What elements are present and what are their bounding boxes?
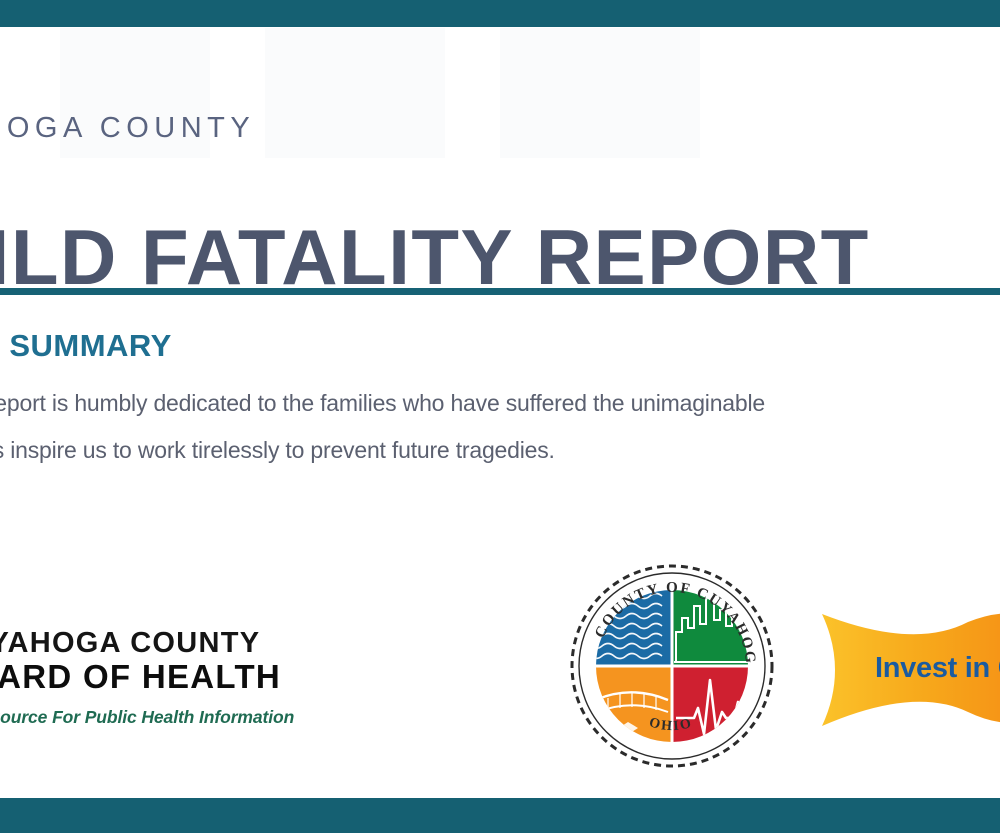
top-accent-bar <box>0 0 1000 27</box>
dedication-line-1: This report is humbly dedicated to the f… <box>0 390 765 417</box>
section-heading-executive-summary: EXECUTIVE SUMMARY <box>0 328 172 364</box>
title-divider-rule <box>0 288 1000 295</box>
invest-in-children-wordmark: Invest in Children <box>875 652 1000 685</box>
board-of-health-tagline: Your Source For Public Health Informatio… <box>0 707 375 728</box>
board-of-health-line-1: CUYAHOGA COUNTY <box>0 628 375 658</box>
county-of-cuyahoga-ohio-seal: COUNTY OF CUYAHOGA OHIO <box>568 562 776 770</box>
board-of-health-line-2: BOARD OF HEALTH <box>0 660 375 695</box>
page-title: CHILD FATALITY REPORT <box>0 218 870 296</box>
invest-in-children-logo: Invest in Children <box>818 608 1000 730</box>
bottom-accent-bar <box>0 798 1000 833</box>
cuyahoga-county-board-of-health-logo: CUYAHOGA COUNTY BOARD OF HEALTH Your Sou… <box>0 628 375 728</box>
watermark-shape-3 <box>500 28 700 158</box>
report-cover-page: CUYAHOGA COUNTY CHILD FATALITY REPORT EX… <box>0 0 1000 833</box>
kicker-cuyahoga-county: CUYAHOGA COUNTY <box>0 112 255 145</box>
dedication-line-2: loss of a child. May their stories inspi… <box>0 437 555 464</box>
watermark-shape-2 <box>265 28 445 158</box>
